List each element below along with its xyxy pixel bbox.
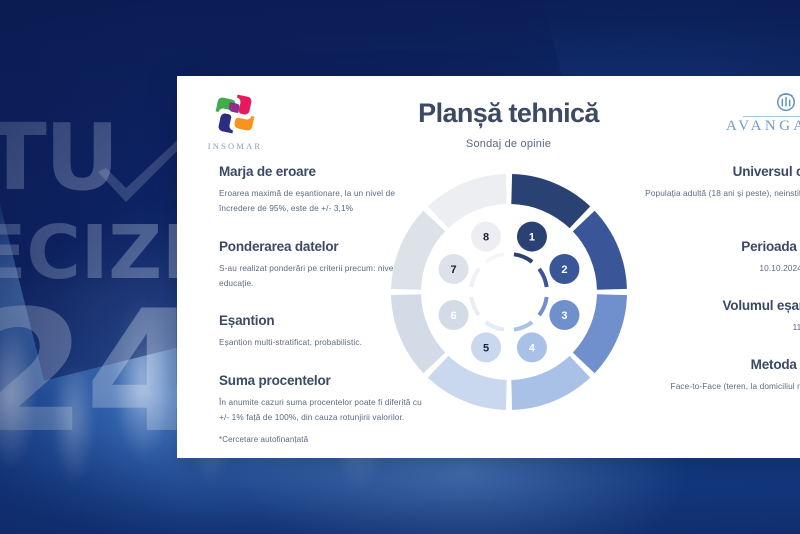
info-block-heading: Metoda culegerii xyxy=(634,357,800,372)
info-block-heading: Perioada culegerii xyxy=(634,239,800,254)
info-block-universul-cercetarii: Universul cercetării Populația adultă (1… xyxy=(634,164,800,217)
donut-inner-tick-1 xyxy=(513,252,533,263)
donut-segment-6[interactable] xyxy=(391,294,445,373)
info-block-perioada-culegerii: Perioada culegerii 10.10.2024 – 20.10.20… xyxy=(634,239,800,276)
donut-inner-tick-6 xyxy=(469,297,480,317)
donut-bubble-label: 8 xyxy=(482,232,488,244)
donut-segment-4[interactable] xyxy=(511,356,590,410)
info-block-metoda-culegerii: Metoda culegerii Face-to-Face (teren, la… xyxy=(634,357,800,394)
footnote: *Cercetare autofinanțată xyxy=(219,435,308,444)
donut-inner-tick-3 xyxy=(537,297,548,317)
info-block-heading: Universul cercetării xyxy=(634,164,800,179)
donut-segment-3[interactable] xyxy=(572,294,626,373)
info-block-body: Populația adultă (18 ani și peste), nein… xyxy=(634,186,800,217)
donut-inner-tick-8 xyxy=(484,252,504,263)
donut-inner-tick-5 xyxy=(484,321,504,332)
donut-inner-tick-7 xyxy=(469,268,480,288)
info-block-volumul-esantionului: Volumul eșantionului 1190 de subiecți xyxy=(634,298,800,335)
donut-segment-8[interactable] xyxy=(427,174,506,228)
info-block-body: 10.10.2024 – 20.10.2024 xyxy=(634,261,800,276)
info-block-body: Face-to-Face (teren, la domiciliul respo… xyxy=(634,379,800,394)
donut-inner-ring xyxy=(469,252,548,331)
donut-segment-5[interactable] xyxy=(427,356,506,410)
donut-segments xyxy=(391,174,627,410)
donut-bubble-label: 5 xyxy=(482,342,488,354)
donut-bubble-label: 7 xyxy=(450,264,456,276)
donut-chart-svg: 12345678 xyxy=(389,172,629,412)
donut-chart: 12345678 xyxy=(389,172,629,412)
info-block-body: 1190 de subiecți xyxy=(634,320,800,335)
page-title: Planșă tehnică xyxy=(177,98,800,129)
info-block-heading: Volumul eșantionului xyxy=(634,298,800,313)
right-info-column: Universul cercetării Populația adultă (1… xyxy=(634,164,800,417)
page-subtitle: Sondaj de opinie xyxy=(177,138,800,150)
donut-bubble-label: 3 xyxy=(561,310,567,322)
donut-inner-tick-2 xyxy=(537,268,548,288)
donut-segment-7[interactable] xyxy=(391,211,445,290)
donut-number-bubbles: 12345678 xyxy=(438,222,579,363)
infographic-canvas: TU ECIZI 24 INSOMAR xyxy=(0,0,800,534)
donut-bubble-label: 2 xyxy=(561,264,567,276)
technical-sheet-card: INSOMAR AVANGARDE Planșă tehnică Sondaj … xyxy=(177,76,800,458)
donut-bubble-label: 4 xyxy=(528,342,535,354)
donut-inner-tick-4 xyxy=(513,321,533,332)
donut-bubble-label: 1 xyxy=(528,232,534,244)
donut-segment-2[interactable] xyxy=(572,211,626,290)
donut-segment-1[interactable] xyxy=(511,174,590,228)
donut-bubble-label: 6 xyxy=(450,310,456,322)
